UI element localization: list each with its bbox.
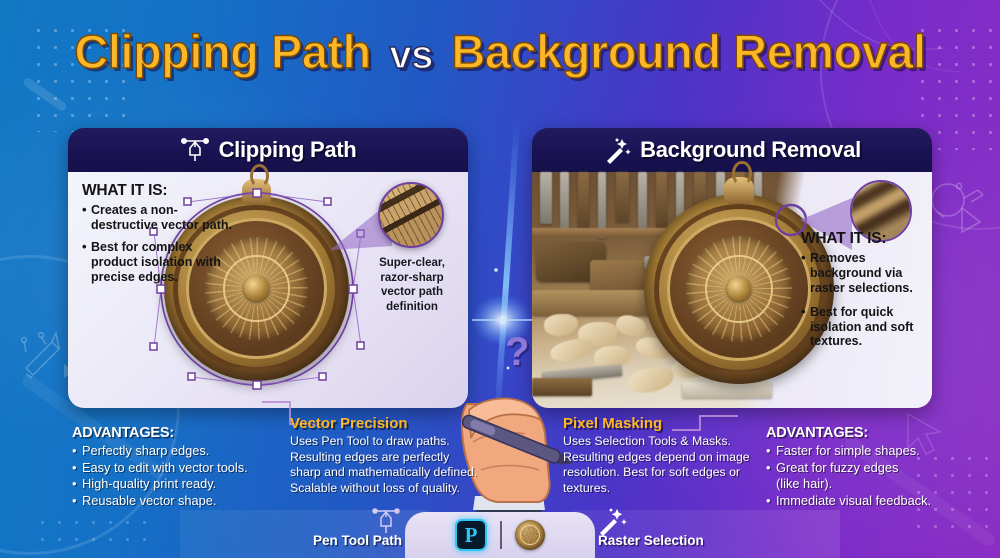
vector-precision-body: Uses Pen Tool to draw paths. Resulting e… bbox=[290, 434, 480, 497]
what-it-is-list: Removes background via raster selections… bbox=[801, 251, 923, 349]
divider bbox=[500, 521, 502, 549]
pixel-masking-body: Uses Selection Tools & Masks. Resulting … bbox=[563, 434, 753, 497]
pixel-masking-block: Pixel Masking Uses Selection Tools & Mas… bbox=[563, 415, 753, 497]
vector-precision-heading: Vector Precision bbox=[290, 415, 480, 432]
advantages-list: Faster for simple shapes. Great for fuzz… bbox=[766, 443, 994, 510]
list-item: Reusable vector shape. bbox=[72, 493, 287, 510]
pen-tool-outline-icon bbox=[12, 322, 74, 384]
list-item: Best for complex product isolation with … bbox=[82, 240, 232, 285]
what-it-is-list: Creates a non-destructive vector path. B… bbox=[82, 203, 232, 284]
vector-precision-block: Vector Precision Uses Pen Tool to draw p… bbox=[290, 415, 480, 497]
list-item: Faster for simple shapes. bbox=[766, 443, 994, 460]
list-item: Best for quick isolation and soft textur… bbox=[801, 305, 923, 350]
advantages-background-removal: ADVANTAGES: Faster for simple shapes. Gr… bbox=[766, 425, 994, 510]
clipping-path-card-header: Clipping Path bbox=[68, 128, 468, 172]
bottom-center-badges: P bbox=[405, 512, 595, 558]
advantages-heading: ADVANTAGES: bbox=[72, 425, 287, 441]
pen-tool-icon bbox=[370, 506, 402, 536]
background-removal-card-title: Background Removal bbox=[640, 137, 861, 163]
magic-wand-icon bbox=[603, 136, 631, 164]
title-vs: vs bbox=[383, 33, 439, 77]
background-removal-what-it-is: WHAT IT IS: Removes background via raste… bbox=[801, 230, 923, 358]
photoshop-badge[interactable]: P bbox=[455, 519, 487, 551]
clipping-path-what-it-is: WHAT IT IS: Creates a non-destructive ve… bbox=[82, 182, 232, 291]
clipping-path-callout-text: Super-clear, razor-sharp vector path def… bbox=[364, 256, 460, 314]
magic-wand-icon bbox=[596, 506, 628, 536]
advantages-heading: ADVANTAGES: bbox=[766, 425, 994, 441]
pen-tool-icon bbox=[180, 136, 210, 164]
bottom-bar: Pen Tool Path P Raster Selection bbox=[0, 510, 1000, 558]
magic-wand-outline-icon bbox=[922, 168, 994, 240]
what-it-is-heading: WHAT IT IS: bbox=[82, 182, 232, 200]
list-item: High-quality print ready. bbox=[72, 476, 287, 493]
background-removal-card-header: Background Removal bbox=[532, 128, 932, 172]
background-removal-card-body: WHAT IT IS: Removes background via raste… bbox=[532, 172, 932, 408]
clipping-path-card[interactable]: Clipping Path bbox=[68, 128, 468, 408]
list-item: Perfectly sharp edges. bbox=[72, 443, 287, 460]
what-it-is-heading: WHAT IT IS: bbox=[801, 230, 923, 248]
list-item: Great for fuzzy edges bbox=[766, 460, 994, 477]
list-item: Removes background via raster selections… bbox=[801, 251, 923, 296]
advantages-list: Perfectly sharp edges. Easy to edit with… bbox=[72, 443, 287, 510]
clipping-path-card-title: Clipping Path bbox=[219, 137, 357, 163]
list-item: (like hair). bbox=[766, 476, 994, 493]
astrolabe-medallion-icon bbox=[515, 520, 545, 550]
crisp-edge-magnifier bbox=[378, 182, 444, 248]
page-title: Clipping Path vs Background Removal bbox=[0, 24, 1000, 79]
bottom-label-raster-selection: Raster Selection bbox=[598, 533, 704, 548]
clipping-path-card-body: WHAT IT IS: Creates a non-destructive ve… bbox=[68, 172, 468, 408]
list-item: Creates a non-destructive vector path. bbox=[82, 203, 232, 233]
title-part-clipping-path: Clipping Path bbox=[74, 25, 370, 78]
advantages-clipping-path: ADVANTAGES: Perfectly sharp edges. Easy … bbox=[72, 425, 287, 510]
list-item: Easy to edit with vector tools. bbox=[72, 460, 287, 477]
pixel-masking-heading: Pixel Masking bbox=[563, 415, 753, 432]
bottom-label-pen-tool-path: Pen Tool Path bbox=[313, 533, 402, 548]
background-removal-card[interactable]: Background Removal bbox=[532, 128, 932, 408]
list-item: Immediate visual feedback. bbox=[766, 493, 994, 510]
title-part-background-removal: Background Removal bbox=[451, 25, 925, 78]
